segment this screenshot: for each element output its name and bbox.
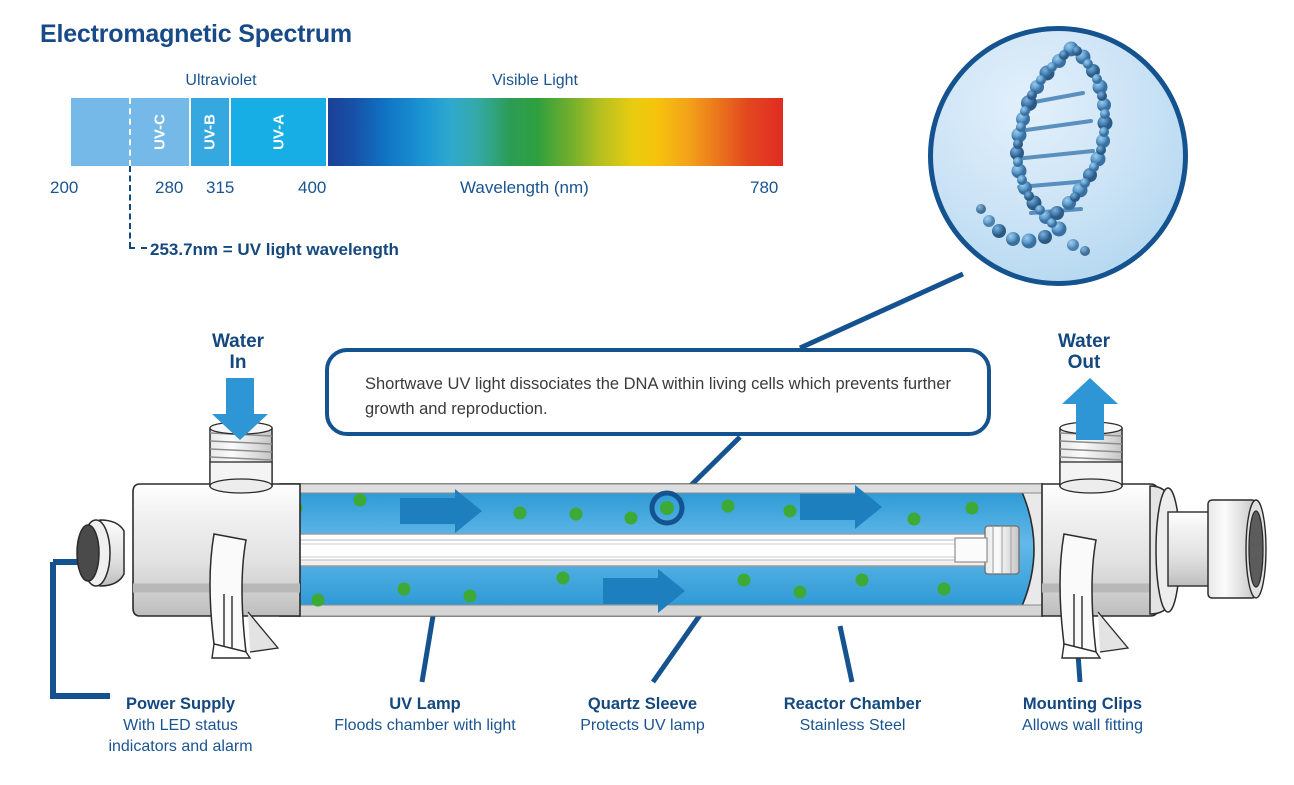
component-label-reactor-chamber: Reactor Chamber Stainless Steel [760,693,945,736]
water-in-line1: Water [188,332,288,353]
water-out-label: Water Out [1034,332,1134,374]
component-label-uv-lamp: UV Lamp Floods chamber with light [320,693,530,736]
left-end-housing [77,484,300,616]
power-supply-sub2: indicators and alarm [78,736,283,757]
power-supply-sub1: With LED status [78,715,283,736]
reactor-chamber-title: Reactor Chamber [760,693,945,715]
uv-lamp-sub1: Floods chamber with light [320,715,530,736]
mounting-clips-title: Mounting Clips [985,693,1180,715]
water-out-line1: Water [1034,332,1134,353]
component-label-power-supply: Power Supply With LED status indicators … [78,693,283,757]
component-label-mounting-clips: Mounting Clips Allows wall fitting [985,693,1180,736]
water-in-label: Water In [188,332,288,374]
water-in-line2: In [188,353,288,374]
component-label-quartz-sleeve: Quartz Sleeve Protects UV lamp [550,693,735,736]
water-out-line2: Out [1034,353,1134,374]
callout-box: Shortwave UV light dissociates the DNA w… [325,348,991,436]
quartz-sleeve-sub1: Protects UV lamp [550,715,735,736]
uv-lamp-title: UV Lamp [320,693,530,715]
power-supply-title: Power Supply [78,693,283,715]
quartz-sleeve-title: Quartz Sleeve [550,693,735,715]
callout-text: Shortwave UV light dissociates the DNA w… [365,372,965,422]
mounting-clips-sub1: Allows wall fitting [985,715,1180,736]
reactor-chamber-sub1: Stainless Steel [760,715,945,736]
